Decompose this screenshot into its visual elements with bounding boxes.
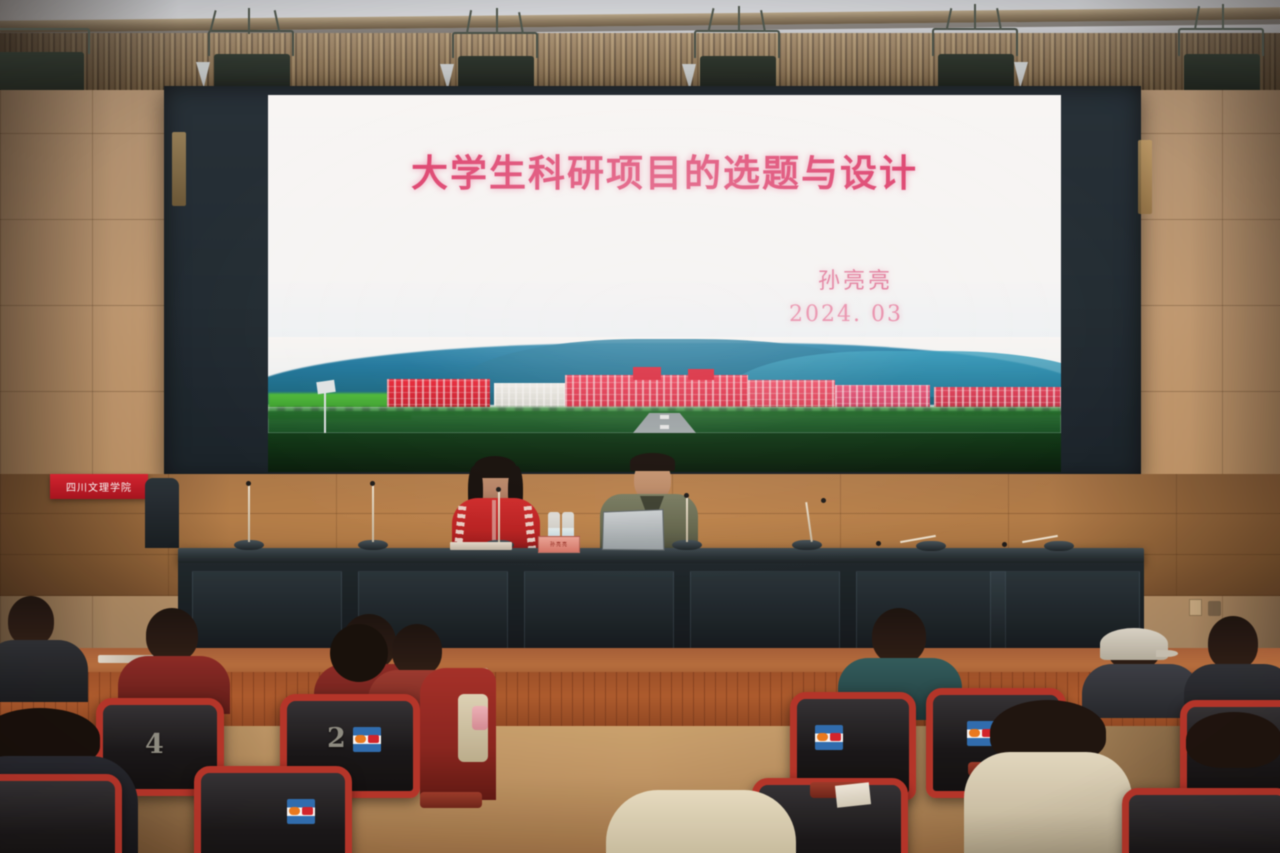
seat-cushion xyxy=(0,781,115,853)
microphone-head xyxy=(370,481,375,486)
audience-head xyxy=(330,624,388,682)
stage-light-cable xyxy=(496,8,498,34)
audience-shoulders-foreground xyxy=(606,790,796,853)
stage-light-yoke xyxy=(208,30,294,56)
presentation-slide[interactable]: 大学生科研项目的选题与设计 孙亮亮 2024. 03 xyxy=(268,95,1061,472)
slide-title: 大学生科研项目的选题与设计 xyxy=(268,143,1061,197)
sticker-pill xyxy=(969,729,980,737)
stage-light-yoke xyxy=(452,32,538,58)
stage-light-cable xyxy=(248,8,250,34)
sticker-pill xyxy=(368,735,379,743)
cap-brim xyxy=(1156,650,1178,657)
photo-tower xyxy=(688,369,713,380)
stage-light-yoke xyxy=(0,28,90,54)
audience-head xyxy=(872,608,926,664)
audience-shoulders xyxy=(0,640,88,702)
audience-head xyxy=(1208,616,1258,670)
photo-tower xyxy=(633,367,662,380)
audience-head xyxy=(392,624,442,676)
stage-light-yoke xyxy=(1178,28,1264,56)
microphone-stem xyxy=(372,484,374,542)
stage-light-yoke xyxy=(694,30,780,58)
auditorium-seat[interactable] xyxy=(1122,788,1280,853)
microphone-head xyxy=(684,493,689,498)
photo-light-head xyxy=(316,380,335,394)
stage-light-fixture xyxy=(1184,54,1260,94)
microphone-stem xyxy=(498,490,500,542)
venue-name-sign: 四川文理学院 xyxy=(50,474,148,499)
slide-background xyxy=(268,95,1061,350)
microphone-base xyxy=(792,540,822,550)
seat-number: 4 xyxy=(145,729,164,760)
bezel-ornament-right xyxy=(1138,140,1152,214)
microphone-head xyxy=(496,487,501,492)
podium xyxy=(145,478,179,548)
seat-armrest xyxy=(420,792,482,808)
microphone-base xyxy=(1044,541,1074,551)
seat-number: 2 xyxy=(327,723,346,754)
paper-document xyxy=(450,542,512,550)
audience-head-foreground xyxy=(1186,712,1280,768)
seat-cushion xyxy=(1129,795,1280,853)
paper-on-armrest xyxy=(835,782,871,807)
stage-light-cable xyxy=(1222,4,1224,30)
auditorium-seat[interactable] xyxy=(194,766,352,853)
seat-wifi-sticker xyxy=(353,727,381,752)
campus-aerial-photo xyxy=(268,337,1061,472)
auditorium-seat[interactable] xyxy=(0,774,122,853)
microphone-base xyxy=(916,541,946,551)
seat-wifi-sticker xyxy=(287,799,315,824)
man-hair xyxy=(630,453,675,471)
microphone-head xyxy=(821,498,826,503)
microphone-head xyxy=(1002,542,1007,547)
stage-light-cable xyxy=(738,6,740,32)
sticker-pill xyxy=(302,807,313,815)
sticker-pill xyxy=(817,733,828,741)
sticker-pill xyxy=(830,733,841,741)
desk-nameplate: 孙亮亮 xyxy=(538,536,580,553)
slide-presenter-name: 孙亮亮 xyxy=(818,263,893,295)
microphone-stem xyxy=(686,496,688,542)
bezel-ornament-left xyxy=(172,132,186,206)
pink-bottle xyxy=(472,706,488,730)
stage-light-yoke xyxy=(932,28,1018,56)
laptop xyxy=(602,509,664,550)
microphone-stem xyxy=(248,484,250,542)
sticker-pill xyxy=(355,735,366,743)
seat-cushion xyxy=(201,773,345,853)
slide-date: 2024. 03 xyxy=(789,302,903,327)
lecture-hall-photo: 大学生科研项目的选题与设计 孙亮亮 2024. 03 xyxy=(0,0,1280,853)
microphone-head xyxy=(246,481,251,486)
seat-wifi-sticker xyxy=(815,725,843,750)
microphone-head xyxy=(876,541,881,546)
audience-shoulders-foreground xyxy=(964,752,1132,853)
audience-head xyxy=(146,608,198,662)
audience-head xyxy=(8,596,54,646)
stage-light-cable xyxy=(974,4,976,30)
sticker-pill xyxy=(289,807,300,815)
